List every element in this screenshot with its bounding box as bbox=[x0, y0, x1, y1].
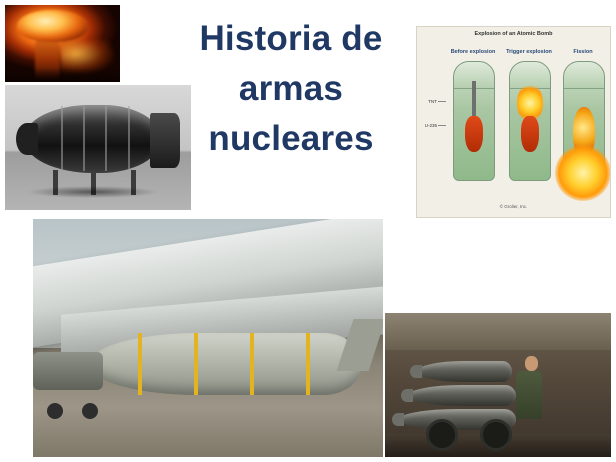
diagram-column-label: Fission bbox=[557, 49, 609, 55]
title-line-3: nucleares bbox=[160, 114, 422, 164]
diagram-core bbox=[465, 116, 483, 151]
diagram-column-label: Before explosion bbox=[447, 49, 499, 55]
atomic-bomb-diagram: Explosion of an Atomic Bomb TNT U-235 Be… bbox=[416, 26, 611, 218]
fatman-band bbox=[83, 106, 85, 171]
diagram-column-trigger-explosion: Trigger explosion bbox=[503, 49, 555, 199]
diagram-column-before-explosion: Before explosion bbox=[447, 49, 499, 199]
diagram-trigger-pin bbox=[472, 81, 476, 116]
diagram-fission-burst bbox=[555, 145, 611, 201]
diagram-bomb-cap bbox=[564, 62, 604, 89]
missile bbox=[417, 361, 512, 382]
nuclear-explosion-photo bbox=[5, 5, 120, 82]
title-line-2: armas bbox=[160, 64, 422, 114]
explosion-cap bbox=[17, 10, 88, 42]
diagram-title: Explosion of an Atomic Bomb bbox=[417, 31, 610, 37]
trailer-wheel bbox=[480, 419, 512, 451]
title-line-1: Historia de bbox=[160, 14, 422, 64]
soldier bbox=[516, 371, 542, 419]
diagram-column-label: Trigger explosion bbox=[503, 49, 555, 55]
hangar-ceiling bbox=[385, 313, 611, 350]
missile-tip bbox=[401, 389, 413, 402]
cart-wheel bbox=[47, 403, 63, 419]
diagram-tick bbox=[438, 125, 446, 126]
diagram-bomb-casing bbox=[509, 61, 551, 181]
fatman-band bbox=[105, 106, 107, 171]
fatman-band bbox=[128, 106, 130, 171]
trailer-wheel bbox=[426, 419, 458, 451]
cart-wheel bbox=[82, 403, 98, 419]
diagram-side-label-u235: U-235 bbox=[419, 123, 437, 128]
bomber-aircraft-bomb-photo bbox=[33, 219, 383, 457]
explosion-foreground bbox=[5, 68, 120, 82]
bomb-yellow-band bbox=[138, 333, 142, 395]
diagram-tick bbox=[438, 101, 446, 102]
bomb-yellow-band bbox=[194, 333, 198, 395]
diagram-core bbox=[521, 116, 539, 151]
bomb-yellow-band bbox=[306, 333, 310, 395]
page-title: Historia de armas nucleares bbox=[160, 14, 422, 164]
diagram-credit: © Grolier, Inc. bbox=[417, 204, 610, 209]
fatman-body bbox=[24, 105, 162, 173]
soldier-head bbox=[525, 356, 538, 371]
missile-tip bbox=[410, 365, 422, 378]
fatman-tail bbox=[150, 113, 180, 168]
bomb-yellow-band bbox=[250, 333, 254, 395]
diagram-side-label-tnt: TNT bbox=[419, 99, 437, 104]
diagram-column-fission: Fission bbox=[557, 49, 609, 199]
missiles-soldier-photo bbox=[385, 313, 611, 457]
missile-tip bbox=[392, 413, 404, 426]
slide-canvas: Historia de armas nucleares Explosion of… bbox=[0, 0, 616, 462]
bomb-body bbox=[89, 333, 362, 395]
fat-man-bomb-photo bbox=[5, 85, 191, 210]
fatman-shadow bbox=[27, 186, 157, 197]
bomb-transport-cart bbox=[33, 352, 103, 390]
fatman-nose bbox=[16, 123, 38, 156]
missile bbox=[408, 385, 516, 406]
fatman-band bbox=[61, 106, 63, 171]
diagram-bomb-casing bbox=[453, 61, 495, 181]
